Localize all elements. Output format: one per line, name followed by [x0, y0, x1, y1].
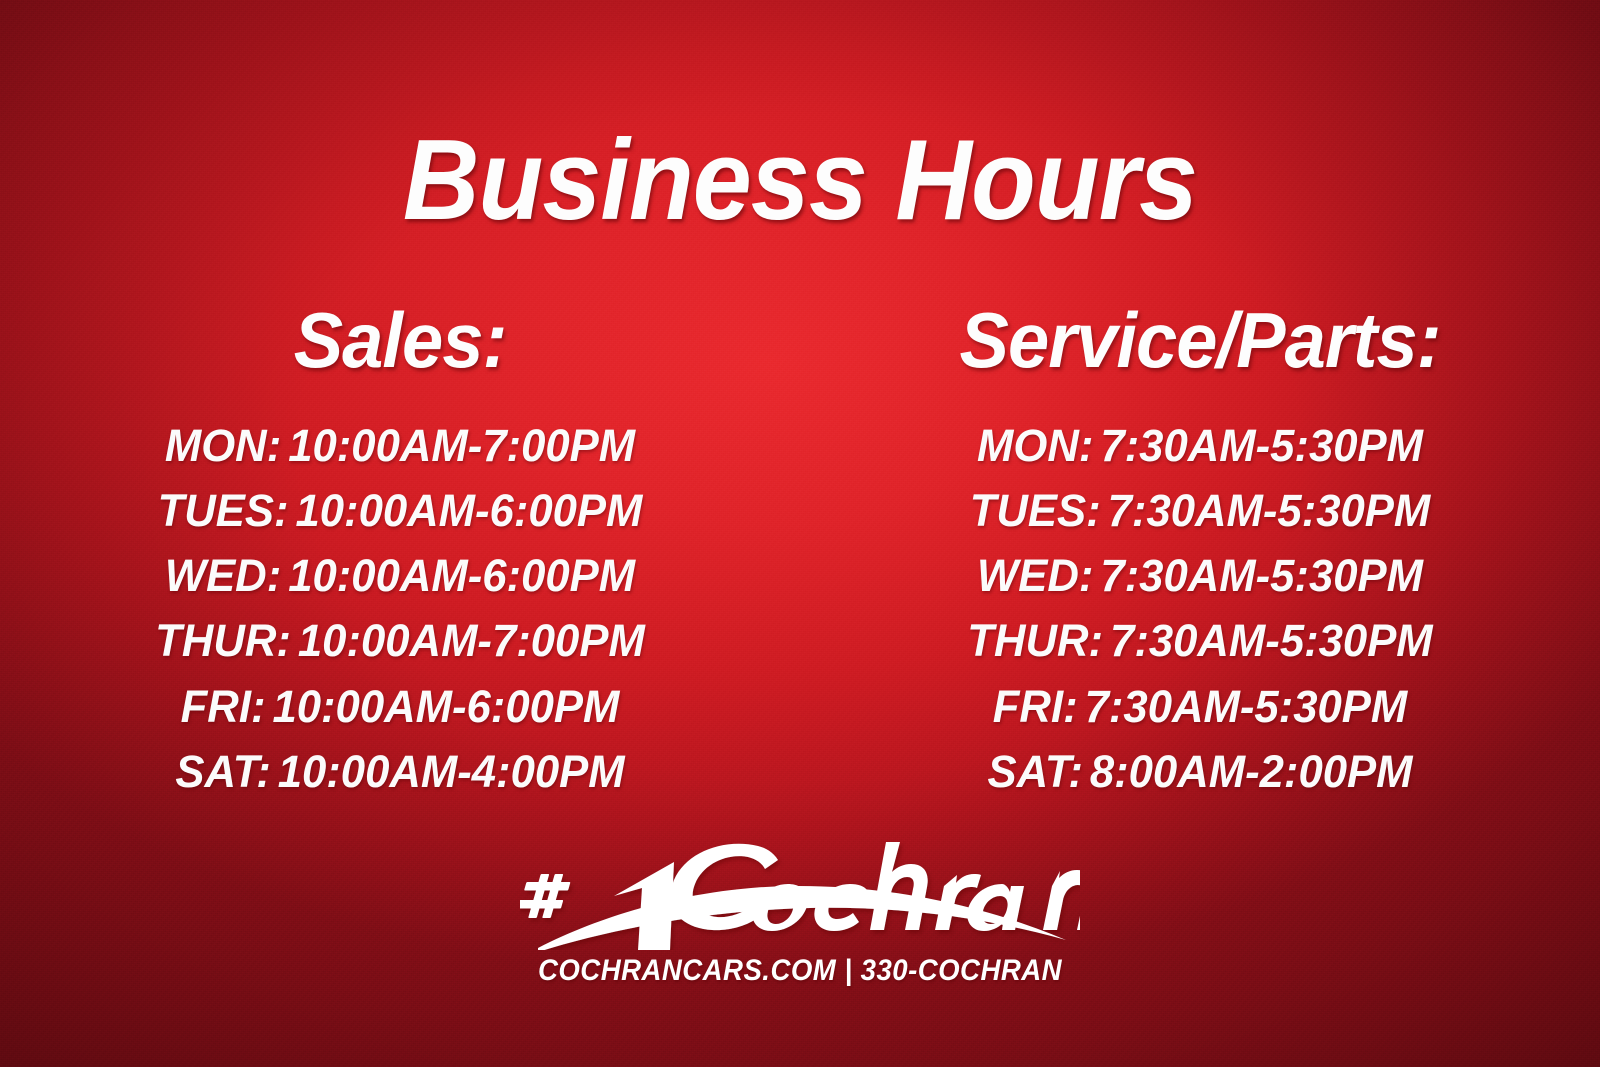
table-row: MON:7:30AM-5:30PM: [812, 413, 1588, 478]
day-label: MON:: [165, 420, 281, 471]
table-row: TUES:7:30AM-5:30PM: [812, 478, 1588, 543]
service-parts-column: Service/Parts: MON:7:30AM-5:30PM TUES:7:…: [800, 236, 1600, 804]
hours-value: 10:00AM-7:00PM: [298, 615, 645, 666]
service-parts-hours-list: MON:7:30AM-5:30PM TUES:7:30AM-5:30PM WED…: [800, 413, 1600, 805]
brand-logo: COCHRANCARS.COM | 330-COCHRAN: [0, 800, 1600, 988]
sales-column: Sales: MON:10:00AM-7:00PM TUES:10:00AM-6…: [0, 236, 800, 804]
hours-value: 7:30AM-5:30PM: [1100, 550, 1423, 601]
service-parts-column-heading: Service/Parts:: [820, 301, 1580, 379]
table-row: MON:10:00AM-7:00PM: [12, 413, 788, 478]
table-row: FRI:7:30AM-5:30PM: [812, 674, 1588, 739]
hours-value: 8:00AM-2:00PM: [1090, 746, 1413, 797]
day-label: THUR:: [967, 615, 1103, 666]
table-row: WED:10:00AM-6:00PM: [12, 543, 788, 608]
day-label: FRI:: [181, 681, 266, 732]
hours-columns: Sales: MON:10:00AM-7:00PM TUES:10:00AM-6…: [0, 236, 1600, 804]
hours-value: 10:00AM-7:00PM: [288, 420, 635, 471]
hours-value: 10:00AM-6:00PM: [288, 550, 635, 601]
day-label: FRI:: [993, 681, 1078, 732]
page-title: Business Hours: [56, 124, 1544, 238]
day-label: WED:: [165, 550, 281, 601]
business-hours-poster: Business Hours Sales: MON:10:00AM-7:00PM…: [0, 0, 1600, 1067]
table-row: SAT:10:00AM-4:00PM: [12, 739, 788, 804]
sales-column-heading: Sales:: [20, 301, 780, 379]
table-row: THUR:7:30AM-5:30PM: [812, 608, 1588, 673]
footer-contact: COCHRANCARS.COM | 330-COCHRAN: [64, 954, 1536, 988]
table-row: TUES:10:00AM-6:00PM: [12, 478, 788, 543]
hours-value: 10:00AM-6:00PM: [272, 681, 619, 732]
table-row: THUR:10:00AM-7:00PM: [12, 608, 788, 673]
table-row: WED:7:30AM-5:30PM: [812, 543, 1588, 608]
day-label: THUR:: [155, 615, 291, 666]
table-row: FRI:10:00AM-6:00PM: [12, 674, 788, 739]
day-label: TUES:: [970, 485, 1101, 536]
day-label: MON:: [977, 420, 1093, 471]
hours-value: 7:30AM-5:30PM: [1100, 420, 1423, 471]
hours-value: 10:00AM-4:00PM: [278, 746, 625, 797]
day-label: WED:: [977, 550, 1093, 601]
hours-value: 10:00AM-6:00PM: [295, 485, 642, 536]
cochran-logo-icon: [520, 800, 1080, 950]
hours-value: 7:30AM-5:30PM: [1110, 615, 1433, 666]
table-row: SAT:8:00AM-2:00PM: [812, 739, 1588, 804]
hours-value: 7:30AM-5:30PM: [1108, 485, 1431, 536]
sales-hours-list: MON:10:00AM-7:00PM TUES:10:00AM-6:00PM W…: [0, 413, 800, 805]
day-label: SAT:: [988, 746, 1083, 797]
hours-value: 7:30AM-5:30PM: [1085, 681, 1408, 732]
day-label: TUES:: [158, 485, 289, 536]
day-label: SAT:: [175, 746, 270, 797]
